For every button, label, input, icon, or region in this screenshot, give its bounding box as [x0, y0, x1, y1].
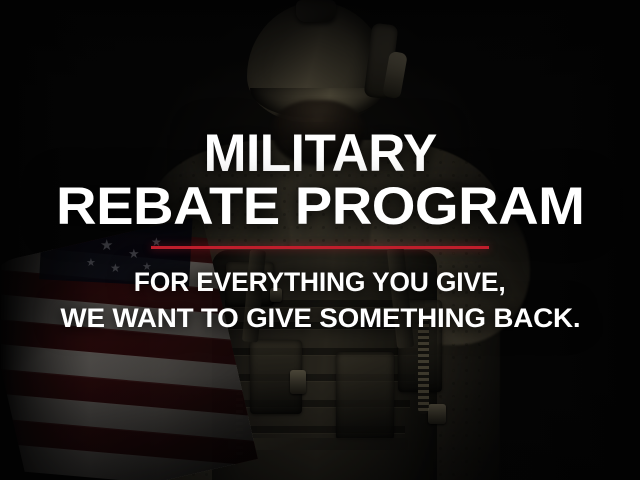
military-rebate-program-banner: MILITARY REBATE PROGRAM FOR EVERYTHING Y… — [0, 0, 640, 480]
red-divider-rule — [151, 246, 489, 249]
subheadline-line-1: FOR EVERYTHING YOU GIVE, — [134, 266, 506, 299]
subheadline-line-2: WE WANT TO GIVE SOMETHING BACK. — [60, 302, 580, 335]
headline-line-2: REBATE PROGRAM — [56, 181, 584, 232]
headline-line-1: MILITARY — [203, 128, 436, 179]
text-overlay: MILITARY REBATE PROGRAM FOR EVERYTHING Y… — [0, 0, 640, 480]
